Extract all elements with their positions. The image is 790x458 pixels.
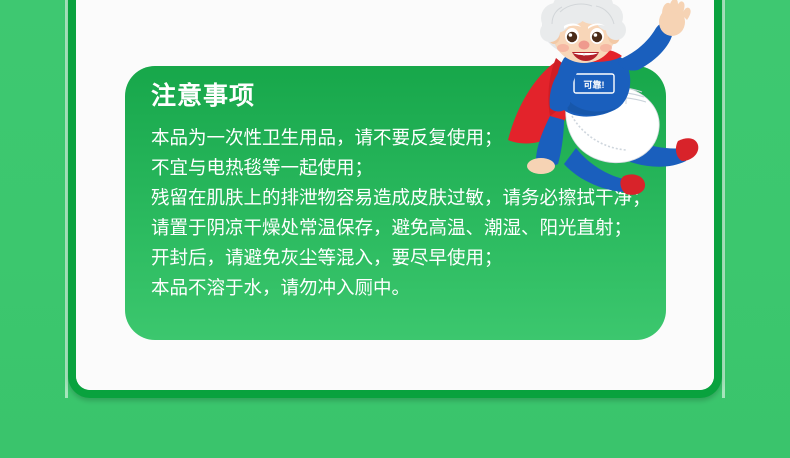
waving-hand	[659, 0, 691, 36]
promo-banner: 注意事项 本品为一次性卫生用品，请不要反复使用； 不宜与电热毯等一起使用； 残留…	[0, 0, 790, 458]
elderly-superhero-mascot-icon: 可靠!	[506, 0, 721, 198]
notice-line-5: 开封后，请避免灰尘等混入，要尽早使用；	[151, 243, 651, 273]
chest-badge-label: 可靠!	[584, 79, 605, 90]
eye-right	[590, 28, 604, 44]
eye-left	[565, 28, 579, 44]
chest-badge: 可靠!	[574, 74, 614, 93]
cheek-right	[600, 44, 612, 52]
boot-right	[676, 138, 698, 161]
foot-left	[527, 158, 555, 174]
card-seam-right	[722, 0, 725, 398]
boot-front	[620, 174, 645, 194]
nose	[579, 41, 590, 50]
notice-line-6: 本品不溶于水，请勿冲入厕中。	[151, 273, 651, 303]
notice-line-4: 请置于阴凉干燥处常温保存，避免高温、潮湿、阳光直射；	[151, 213, 651, 243]
cheek-left	[557, 44, 569, 52]
